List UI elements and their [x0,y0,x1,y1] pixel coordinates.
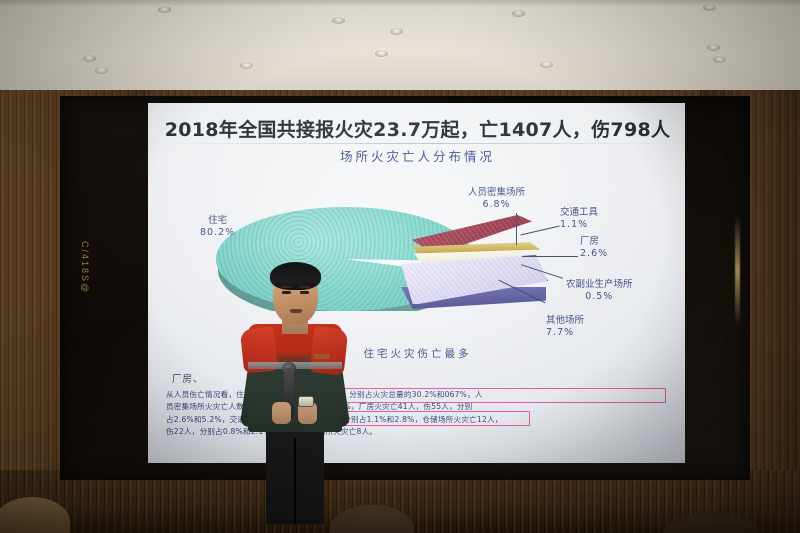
downlight-icon [240,62,253,69]
pie-label-residential-name: 住宅 [208,215,227,226]
downlight-icon [703,4,716,11]
frame-highlight [735,216,740,326]
pie-label-factory-pct: 2.6% [580,248,608,260]
downlight-icon [713,56,726,63]
downlight-icon [332,17,345,24]
leader-line-crowded [516,213,517,245]
pie-label-other-pct: 7.7% [546,327,584,339]
pie-label-transport-pct: 1.1% [560,219,598,231]
photo-scene: C/418S@ 2018年全国共接报火灾23.7万起，亡1407人，伤798人 … [0,0,800,533]
slide-title: 2018年全国共接报火灾23.7万起，亡1407人，伤798人 [156,115,679,142]
downlight-icon [95,67,108,74]
pie-label-agri-name: 农副业生产场所 [566,279,633,290]
title-divider [162,143,673,144]
pie-label-factory-name: 厂房 [580,236,599,247]
pie-label-other-name: 其他场所 [546,315,584,326]
pie-label-agri: 农副业生产场所 0.5% [566,279,633,303]
paragraph-lead: 厂房、 [172,371,204,385]
uniform-badge [314,354,330,359]
pie-label-residential-pct: 80.2% [200,227,235,239]
pie-label-transport-name: 交通工具 [560,207,598,218]
presenter-mouth [290,309,302,313]
pie-label-agri-pct: 0.5% [566,291,633,303]
presenter-hair [270,262,321,290]
downlight-icon [390,28,403,35]
mid-heading: 住宅火灾伤亡最多 [156,346,679,361]
downlight-icon [375,50,388,57]
wristwatch-icon [298,396,314,407]
pie-label-crowded: 人员密集场所 6.8% [468,187,525,211]
pie-label-factory: 厂房 2.6% [580,236,608,260]
pie-label-residential: 住宅 80.2% [200,215,235,239]
presenter-left-hand [272,402,291,424]
downlight-icon [707,44,720,51]
ceiling-edge [0,0,800,7]
presenter-eyebrow [281,286,292,288]
pie-label-crowded-name: 人员密集场所 [468,187,525,198]
ceiling [0,0,800,96]
slide-subtitle: 场所火灾亡人分布情况 [156,146,679,165]
leader-line-factory [522,256,578,257]
downlight-icon [158,6,171,13]
leg-gap [294,438,296,524]
highlight-box [326,411,530,426]
highlight-box [344,388,666,403]
presentation-slide: 2018年全国共接报火灾23.7万起，亡1407人，伤798人 场所火灾亡人分布… [148,103,685,463]
presenter-eye [282,291,291,294]
downlight-icon [83,55,96,62]
pie-label-other: 其他场所 7.7% [546,315,584,339]
pie-label-transport: 交通工具 1.1% [560,207,598,231]
downlight-icon [540,61,553,68]
presenter [236,262,354,524]
pie-label-crowded-pct: 6.8% [468,199,525,211]
presenter-eyebrow [299,286,310,288]
presenter-eye [300,291,309,294]
screen-side-label: C/418S@ [80,241,90,294]
downlight-icon [512,10,525,17]
